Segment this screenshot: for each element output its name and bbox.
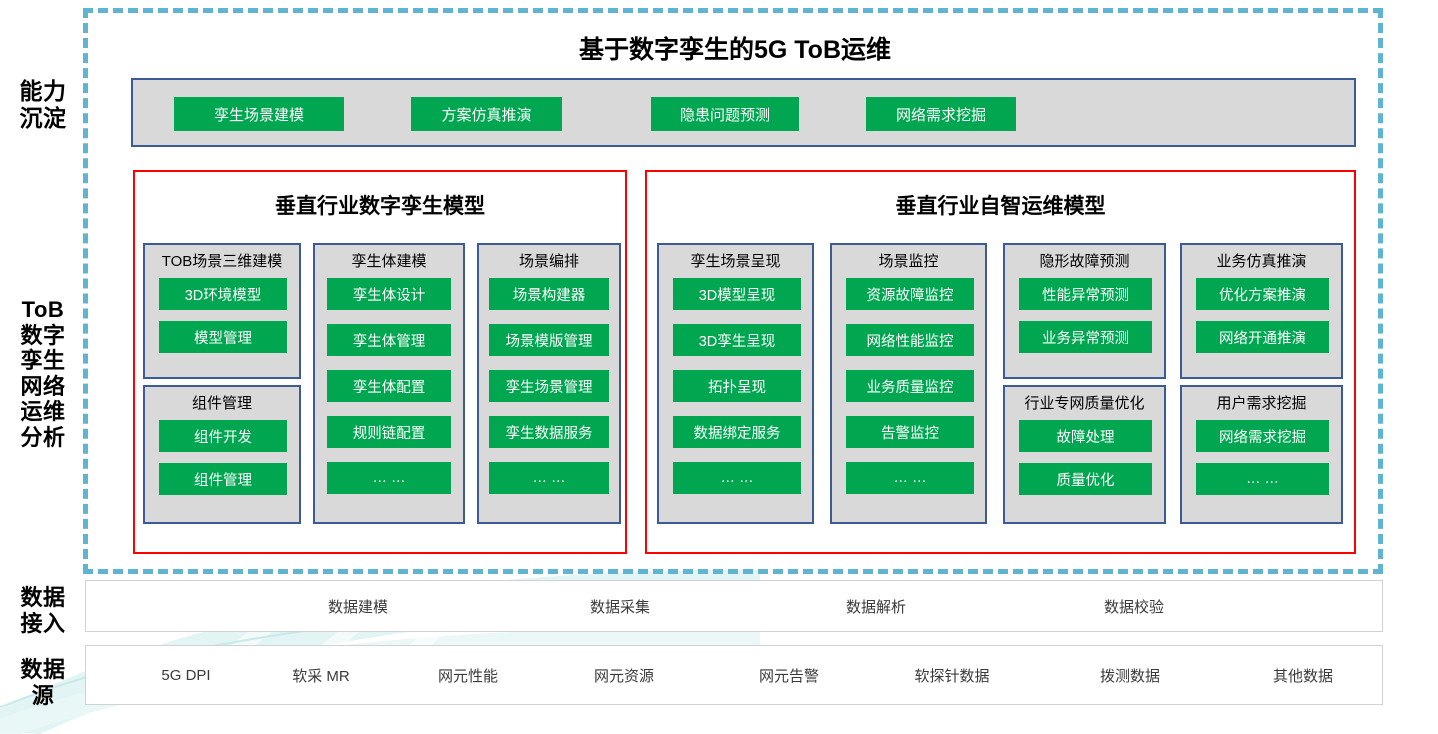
data-access-cell-2-label: 数据解析 <box>846 596 906 617</box>
data-access-cell-0[interactable]: 数据建模 <box>238 581 478 631</box>
item-label: 拓扑呈现 <box>708 376 766 397</box>
item-3d-model-presentation[interactable]: 3D模型呈现 <box>673 278 801 310</box>
column-card-twin-scene-presentation-head: 孪生场景呈现 <box>659 251 812 273</box>
data-source-cell-2-label: 网元性能 <box>438 665 498 686</box>
data-source-cell-4[interactable]: 网元告警 <box>707 646 871 704</box>
item-component-development[interactable]: 组件开发 <box>159 420 287 452</box>
item-label: … … <box>532 470 565 486</box>
row-label-tob-l5: 运维 <box>8 399 78 425</box>
item-performance-anomaly-prediction[interactable]: 性能异常预测 <box>1019 278 1152 310</box>
item-label: 资源故障监控 <box>867 284 954 305</box>
column-card-component-management: 组件管理 组件开发 组件管理 <box>143 385 301 524</box>
capability-chip-2[interactable]: 隐患问题预测 <box>651 97 799 131</box>
diagram-canvas: 能力 沉淀 ToB 数字 孪生 网络 运维 分析 数据 接入 数据 源 基于数字… <box>0 0 1438 734</box>
row-label-data-source-l2: 源 <box>8 683 78 709</box>
item-label: 孪生体配置 <box>353 376 426 397</box>
model-panel-digital-twin-title: 垂直行业数字孪生模型 <box>135 190 625 220</box>
capability-chip-3-label: 网络需求挖掘 <box>896 104 986 125</box>
item-label: 性能异常预测 <box>1042 284 1129 305</box>
model-panel-digital-twin: 垂直行业数字孪生模型 TOB场景三维建模 3D环境模型 模型管理 组件管理 组件… <box>133 170 627 554</box>
item-label: 组件管理 <box>194 469 252 490</box>
item-label: … … <box>372 470 405 486</box>
data-source-cell-2[interactable]: 网元性能 <box>386 646 550 704</box>
data-source-bar: 5G DPI 软采 MR 网元性能 网元资源 网元告警 软探针数据 拨测数据 其… <box>85 645 1383 705</box>
column-card-tob-3d-modeling-head: TOB场景三维建模 <box>145 251 299 273</box>
item-network-demand-mining[interactable]: 网络需求挖掘 <box>1196 420 1329 452</box>
capability-chip-2-label: 隐患问题预测 <box>680 104 770 125</box>
column-card-scene-orchestration: 场景编排 场景构建器 场景模版管理 孪生场景管理 孪生数据服务 … … <box>477 243 621 524</box>
item-label: 孪生体管理 <box>353 330 426 351</box>
data-source-cell-5[interactable]: 软探针数据 <box>870 646 1034 704</box>
item-label: 故障处理 <box>1057 426 1115 447</box>
item-label: 优化方案推演 <box>1219 284 1306 305</box>
row-label-capability: 能力 沉淀 <box>8 78 78 131</box>
row-label-tob-l2: 数字 <box>8 323 78 349</box>
data-source-cell-7-label: 其他数据 <box>1273 665 1333 686</box>
capability-chip-1[interactable]: 方案仿真推演 <box>411 97 562 131</box>
data-source-cell-0-label: 5G DPI <box>161 667 210 684</box>
data-source-cell-6[interactable]: 拨测数据 <box>1048 646 1212 704</box>
item-label: 孪生体设计 <box>353 284 426 305</box>
column-card-service-simulation-head: 业务仿真推演 <box>1182 251 1341 273</box>
data-access-cell-0-label: 数据建模 <box>328 596 388 617</box>
data-source-cell-7[interactable]: 其他数据 <box>1221 646 1385 704</box>
item-label: 模型管理 <box>194 327 252 348</box>
data-access-cell-1[interactable]: 数据采集 <box>500 581 740 631</box>
item-rule-chain-configuration[interactable]: 规则链配置 <box>327 416 451 448</box>
item-network-performance-monitoring[interactable]: 网络性能监控 <box>846 324 974 356</box>
data-access-cell-2[interactable]: 数据解析 <box>756 581 996 631</box>
item-label: 网络需求挖掘 <box>1219 426 1306 447</box>
capability-chip-1-label: 方案仿真推演 <box>441 104 531 125</box>
row-label-data-access: 数据 接入 <box>8 585 78 636</box>
row-label-tob-l6: 分析 <box>8 425 78 451</box>
item-label: 3D孪生呈现 <box>699 330 776 351</box>
item-label: 孪生场景管理 <box>506 376 593 397</box>
item-label: 网络开通推演 <box>1219 327 1306 348</box>
item-label: 场景模版管理 <box>506 330 593 351</box>
item-service-anomaly-prediction[interactable]: 业务异常预测 <box>1019 321 1152 353</box>
item-label: … … <box>720 470 753 486</box>
item-data-binding-service[interactable]: 数据绑定服务 <box>673 416 801 448</box>
column-card-twin-modeling-head: 孪生体建模 <box>315 251 463 273</box>
row-label-capability-l1: 能力 <box>8 78 78 105</box>
item-service-quality-monitoring[interactable]: 业务质量监控 <box>846 370 974 402</box>
item-label: 孪生数据服务 <box>506 422 593 443</box>
item-more-scene-monitoring[interactable]: … … <box>846 462 974 494</box>
item-scene-template-management[interactable]: 场景模版管理 <box>489 324 609 356</box>
column-card-user-demand-mining-head: 用户需求挖掘 <box>1182 393 1341 415</box>
item-optimization-plan-simulation[interactable]: 优化方案推演 <box>1196 278 1329 310</box>
data-source-cell-5-label: 软探针数据 <box>914 665 989 686</box>
row-label-data-source-l1: 数据 <box>8 657 78 683</box>
row-label-tob: ToB 数字 孪生 网络 运维 分析 <box>8 297 78 450</box>
item-topology-presentation[interactable]: 拓扑呈现 <box>673 370 801 402</box>
capability-chip-0-label: 孪生场景建模 <box>214 104 304 125</box>
column-card-component-management-head: 组件管理 <box>145 393 299 415</box>
data-source-cell-1[interactable]: 软采 MR <box>239 646 403 704</box>
item-twin-design[interactable]: 孪生体设计 <box>327 278 451 310</box>
item-label: 数据绑定服务 <box>694 422 781 443</box>
column-card-twin-scene-presentation: 孪生场景呈现 3D模型呈现 3D孪生呈现 拓扑呈现 数据绑定服务 … … <box>657 243 814 524</box>
row-label-data-source: 数据 源 <box>8 657 78 708</box>
item-twin-configuration[interactable]: 孪生体配置 <box>327 370 451 402</box>
item-label: 3D环境模型 <box>185 284 262 305</box>
data-source-cell-4-label: 网元告警 <box>759 665 819 686</box>
item-3d-environment-model[interactable]: 3D环境模型 <box>159 278 287 310</box>
item-label: 告警监控 <box>881 422 939 443</box>
item-label: 业务质量监控 <box>867 376 954 397</box>
item-label: 业务异常预测 <box>1042 327 1129 348</box>
row-label-tob-l3: 孪生 <box>8 348 78 374</box>
item-scene-builder[interactable]: 场景构建器 <box>489 278 609 310</box>
item-more-twin-scene-presentation[interactable]: … … <box>673 462 801 494</box>
data-source-cell-1-label: 软采 MR <box>292 665 350 686</box>
model-panel-autonomous-ops: 垂直行业自智运维模型 孪生场景呈现 3D模型呈现 3D孪生呈现 拓扑呈现 数据绑… <box>645 170 1356 554</box>
item-label: … … <box>1246 471 1279 487</box>
data-access-bar: 数据建模 数据采集 数据解析 数据校验 <box>85 580 1383 632</box>
data-source-cell-3-label: 网元资源 <box>594 665 654 686</box>
page-title: 基于数字孪生的5G ToB运维 <box>110 30 1360 66</box>
column-card-hidden-fault-prediction: 隐形故障预测 性能异常预测 业务异常预测 <box>1003 243 1166 379</box>
capability-chip-0[interactable]: 孪生场景建模 <box>174 97 344 131</box>
data-access-cell-3-label: 数据校验 <box>1104 596 1164 617</box>
column-card-industry-private-network-quality: 行业专网质量优化 故障处理 质量优化 <box>1003 385 1166 524</box>
column-card-scene-orchestration-head: 场景编排 <box>479 251 619 273</box>
item-twin-data-service[interactable]: 孪生数据服务 <box>489 416 609 448</box>
item-more-scene-orchestration[interactable]: … … <box>489 462 609 494</box>
column-card-user-demand-mining: 用户需求挖掘 网络需求挖掘 … … <box>1180 385 1343 524</box>
row-label-tob-l4: 网络 <box>8 374 78 400</box>
row-label-capability-l2: 沉淀 <box>8 105 78 132</box>
item-alarm-monitoring[interactable]: 告警监控 <box>846 416 974 448</box>
item-fault-handling[interactable]: 故障处理 <box>1019 420 1152 452</box>
item-resource-fault-monitoring[interactable]: 资源故障监控 <box>846 278 974 310</box>
item-more-twin-modeling[interactable]: … … <box>327 462 451 494</box>
item-quality-optimization[interactable]: 质量优化 <box>1019 463 1152 495</box>
column-card-service-simulation: 业务仿真推演 优化方案推演 网络开通推演 <box>1180 243 1343 379</box>
column-card-hidden-fault-prediction-head: 隐形故障预测 <box>1005 251 1164 273</box>
column-card-twin-modeling: 孪生体建模 孪生体设计 孪生体管理 孪生体配置 规则链配置 … … <box>313 243 465 524</box>
item-3d-twin-presentation[interactable]: 3D孪生呈现 <box>673 324 801 356</box>
item-label: 组件开发 <box>194 426 252 447</box>
row-label-data-access-l2: 接入 <box>8 611 78 637</box>
item-twin-management[interactable]: 孪生体管理 <box>327 324 451 356</box>
column-card-industry-private-network-quality-head: 行业专网质量优化 <box>1005 393 1164 415</box>
column-card-scene-monitoring: 场景监控 资源故障监控 网络性能监控 业务质量监控 告警监控 … … <box>830 243 987 524</box>
item-label: 场景构建器 <box>513 284 586 305</box>
row-label-tob-l1: ToB <box>8 297 78 323</box>
item-label: 3D模型呈现 <box>699 284 776 305</box>
data-source-cell-3[interactable]: 网元资源 <box>542 646 706 704</box>
column-card-tob-3d-modeling: TOB场景三维建模 3D环境模型 模型管理 <box>143 243 301 379</box>
item-more-user-demand-mining[interactable]: … … <box>1196 463 1329 495</box>
item-twin-scene-management[interactable]: 孪生场景管理 <box>489 370 609 402</box>
item-label: 规则链配置 <box>353 422 426 443</box>
item-model-management[interactable]: 模型管理 <box>159 321 287 353</box>
capability-chip-3[interactable]: 网络需求挖掘 <box>866 97 1016 131</box>
capability-bar: 孪生场景建模 方案仿真推演 隐患问题预测 网络需求挖掘 <box>131 78 1356 147</box>
data-access-cell-3[interactable]: 数据校验 <box>1014 581 1254 631</box>
item-label: 网络性能监控 <box>867 330 954 351</box>
item-network-provisioning-simulation[interactable]: 网络开通推演 <box>1196 321 1329 353</box>
row-label-data-access-l1: 数据 <box>8 585 78 611</box>
item-label: … … <box>893 470 926 486</box>
column-card-scene-monitoring-head: 场景监控 <box>832 251 985 273</box>
data-source-cell-6-label: 拨测数据 <box>1100 665 1160 686</box>
data-access-cell-1-label: 数据采集 <box>590 596 650 617</box>
item-component-manage[interactable]: 组件管理 <box>159 463 287 495</box>
model-panel-autonomous-ops-title: 垂直行业自智运维模型 <box>647 190 1354 220</box>
item-label: 质量优化 <box>1057 469 1115 490</box>
